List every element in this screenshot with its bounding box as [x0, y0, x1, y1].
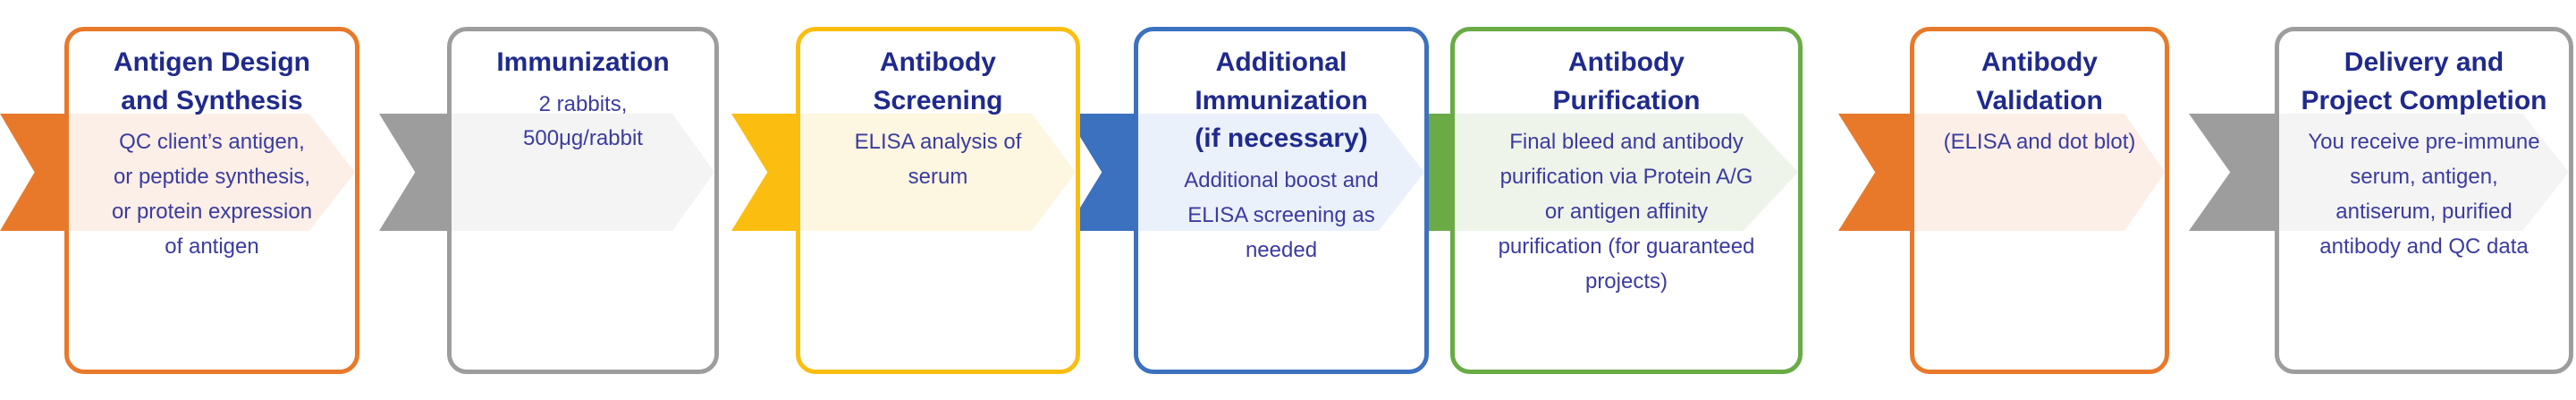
- step-description-line: purification via Protein A/G: [1466, 160, 1786, 195]
- step-title: Antigen Designand Synthesis: [78, 44, 347, 120]
- step-description-line: serum, antigen,: [2289, 160, 2558, 195]
- step-description-line: ELISA screening as: [1148, 199, 1415, 234]
- chevron-connector-7: [2189, 114, 2287, 231]
- step-card-1[interactable]: Antigen Designand Synthesis QC client’s …: [64, 27, 359, 374]
- step-description-line: ELISA analysis of: [810, 125, 1066, 160]
- step-title: Immunization: [460, 44, 706, 82]
- step-title-line: Validation: [1921, 82, 2157, 121]
- step-card-3[interactable]: AntibodyScreening ELISA analysis ofserum: [796, 27, 1080, 374]
- step-title-line: Antibody: [808, 44, 1068, 82]
- step-description: Additional boost andELISA screening asne…: [1148, 164, 1415, 268]
- step-title: AntibodyValidation: [1921, 44, 2157, 120]
- step-card-5[interactable]: AntibodyPurification Final bleed and ant…: [1450, 27, 1803, 374]
- step-title: Delivery andProject Completion: [2288, 44, 2561, 120]
- step-title-line: Immunization: [460, 44, 706, 82]
- step-description-line: You receive pre-immune: [2289, 125, 2558, 160]
- step-description-line: antiserum, purified: [2289, 195, 2558, 230]
- step-description-line: 2 rabbits,: [460, 88, 705, 123]
- step-title-line: Antigen Design: [78, 44, 347, 82]
- step-description-line: Final bleed and antibody: [1466, 125, 1786, 160]
- step-title-line: Project Completion: [2288, 82, 2561, 121]
- step-card-2[interactable]: Immunization 2 rabbits,500μg/rabbit: [447, 27, 719, 374]
- step-description: QC client’s antigen,or peptide synthesis…: [79, 125, 345, 265]
- step-description-line: Additional boost and: [1148, 164, 1415, 199]
- step-description-line: or peptide synthesis,: [79, 160, 345, 195]
- step-description-line: (ELISA and dot blot): [1923, 125, 2156, 160]
- step-title-line: Immunization: [1147, 82, 1416, 121]
- step-description-line: of antigen: [79, 230, 345, 265]
- step-title-line: Delivery and: [2288, 44, 2561, 82]
- step-description-line: 500μg/rabbit: [460, 122, 705, 157]
- step-description: Final bleed and antibodypurification via…: [1466, 125, 1786, 299]
- workflow-diagram: Antigen Designand Synthesis QC client’s …: [0, 0, 2576, 400]
- step-title-line: (if necessary): [1147, 120, 1416, 158]
- step-description: You receive pre-immuneserum, antigen,ant…: [2289, 125, 2558, 265]
- step-title: AntibodyScreening: [808, 44, 1068, 120]
- step-title-line: Purification: [1465, 82, 1788, 121]
- step-title-line: Antibody: [1921, 44, 2157, 82]
- step-title: AntibodyPurification: [1465, 44, 1788, 120]
- step-description-line: serum: [810, 160, 1066, 195]
- step-description: (ELISA and dot blot): [1923, 125, 2156, 160]
- step-description-line: antibody and QC data: [2289, 230, 2558, 265]
- step-title-line: Screening: [808, 82, 1068, 121]
- step-title: AdditionalImmunization(if necessary): [1147, 44, 1416, 158]
- step-title-line: Additional: [1147, 44, 1416, 82]
- step-title-line: Antibody: [1465, 44, 1788, 82]
- step-description-line: or protein expression: [79, 195, 345, 230]
- step-description: ELISA analysis ofserum: [810, 125, 1066, 195]
- step-description: 2 rabbits,500μg/rabbit: [460, 88, 705, 157]
- step-description-line: or antigen affinity: [1466, 195, 1786, 230]
- step-card-4[interactable]: AdditionalImmunization(if necessary) Add…: [1134, 27, 1429, 374]
- step-card-6[interactable]: AntibodyValidation (ELISA and dot blot): [1910, 27, 2169, 374]
- step-card-7[interactable]: Delivery andProject Completion You recei…: [2275, 27, 2573, 374]
- step-description-line: QC client’s antigen,: [79, 125, 345, 160]
- step-description-line: purification (for guaranteed: [1466, 230, 1786, 265]
- step-description-line: needed: [1148, 234, 1415, 268]
- step-title-line: and Synthesis: [78, 82, 347, 121]
- step-description-line: projects): [1466, 265, 1786, 300]
